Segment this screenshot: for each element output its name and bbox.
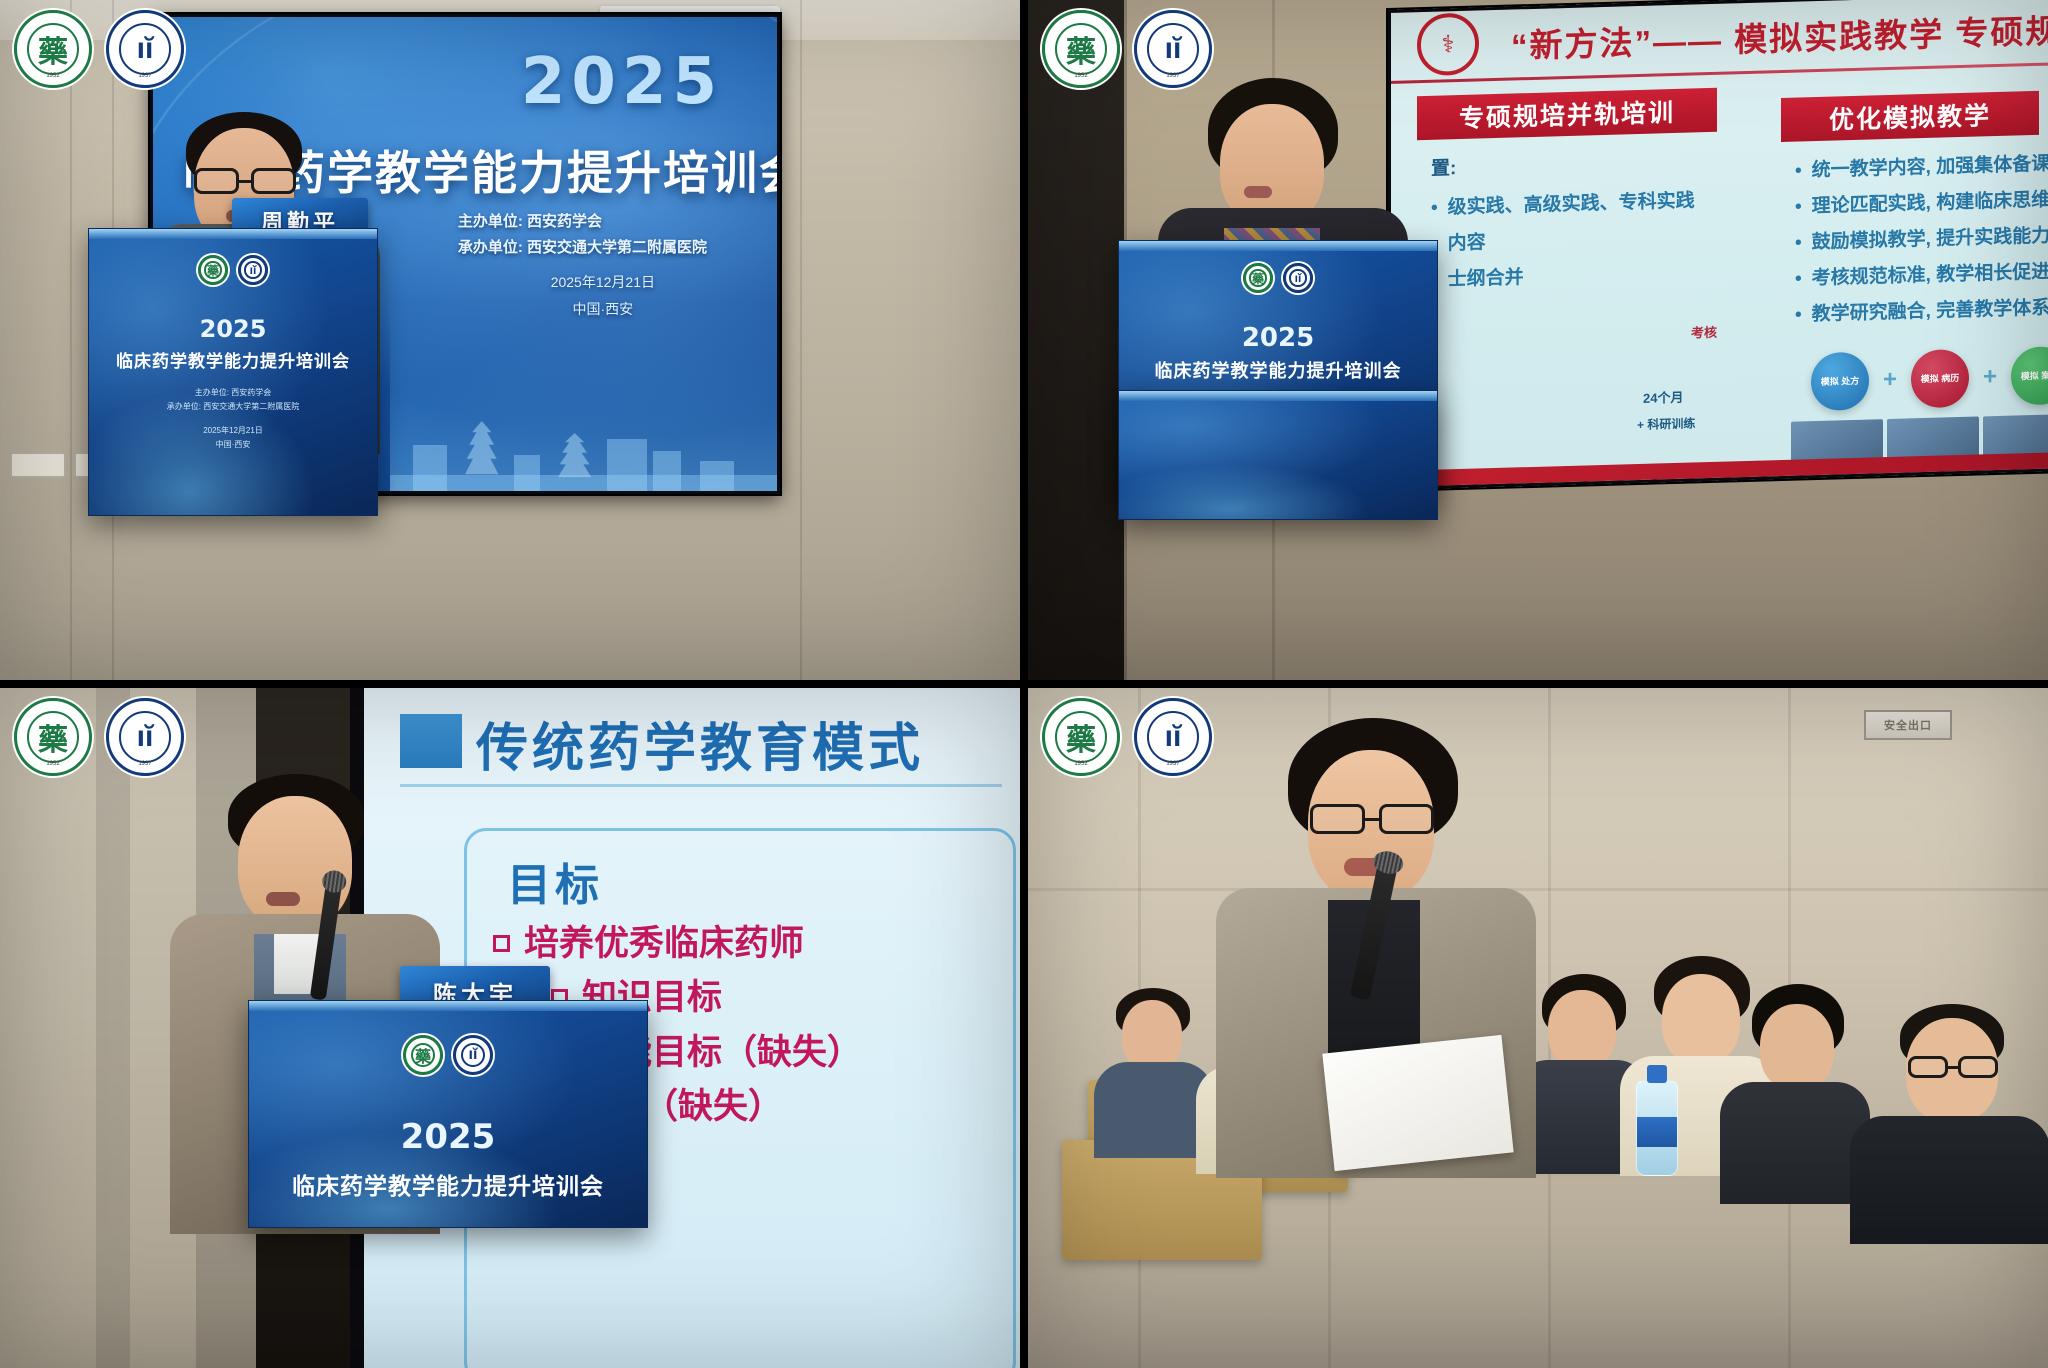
screen-host: 承办单位: 西安交通大学第二附属医院 bbox=[458, 235, 707, 261]
photo-panel-1: 2025 临床药学教学能力提升培训会 主办单位: 西安药学会 承办单位: 西安交… bbox=[0, 0, 1020, 680]
second-affiliated-hospital-logo: ıĭ1937 bbox=[106, 10, 184, 88]
power-outlet bbox=[10, 452, 66, 478]
podium-title: 临床药学教学能力提升培训会 bbox=[89, 347, 377, 372]
overlay-logos: 藥1952 ıĭ1937 bbox=[1042, 10, 1212, 88]
right-box-header: 优化模拟教学 bbox=[1781, 91, 2039, 142]
screen-organizer-block: 主办单位: 西安药学会 承办单位: 西安交通大学第二附属医院 bbox=[458, 209, 707, 262]
podium-title: 临床药学教学能力提升培训会 bbox=[1119, 357, 1437, 383]
screen-year: 2025 bbox=[521, 45, 723, 119]
xian-pharmaceutical-association-logo: 藥1952 bbox=[1042, 698, 1120, 776]
photo-panel-4: 安全出口 bbox=[1028, 688, 2048, 1368]
assessment-label: 考核 bbox=[1691, 322, 1717, 342]
chip: 模拟 病历 bbox=[1911, 349, 1969, 409]
slide-divider bbox=[1391, 63, 2048, 84]
right-box-list: 统一教学内容, 加强集体备课 理论匹配实践, 构建临床思维 鼓励模拟教学, 提升… bbox=[1795, 147, 2048, 335]
city-skyline-graphic bbox=[390, 301, 777, 491]
second-affiliated-hospital-logo: ıĭ1937 bbox=[106, 698, 184, 776]
research-training-label: + 科研训练 bbox=[1637, 414, 1695, 433]
list-item: 培养优秀临床药师 bbox=[493, 917, 1003, 971]
photo-collage: 2025 临床药学教学能力提升培训会 主办单位: 西安药学会 承办单位: 西安交… bbox=[0, 0, 2048, 1368]
glasses-icon bbox=[1908, 1056, 1998, 1078]
right-box-content: 统一教学内容, 加强集体备课 理论匹配实践, 构建临床思维 鼓励模拟教学, 提升… bbox=[1795, 147, 2048, 335]
building bbox=[514, 455, 540, 491]
simulation-chips: 模拟 处方 + 模拟 病历 + 模拟 案例 + 模拟 考核 bbox=[1811, 343, 2048, 411]
second-affiliated-hospital-logo: ıĭ bbox=[238, 255, 268, 285]
audience-member bbox=[1850, 1004, 2048, 1244]
mouth bbox=[1244, 186, 1272, 198]
photo-panel-2: ⚕ “新方法”—— 模拟实践教学 专硕规培并轨 专硕规培并轨培训 置: 级实践、… bbox=[1028, 0, 2048, 680]
slide-title: “新方法”—— 模拟实践教学 专硕规培并轨 bbox=[1511, 1, 2048, 67]
xian-pharmaceutical-association-logo: 藥 bbox=[403, 1035, 443, 1075]
duration-label: 24个月 bbox=[1643, 387, 1683, 407]
list-item: （缺失） bbox=[643, 1080, 1003, 1134]
podium-date: 2025年12月21日 bbox=[89, 425, 377, 436]
wall-column bbox=[96, 688, 130, 1368]
screen-meta-block: 2025年12月21日 中国·西安 bbox=[551, 269, 655, 322]
glasses-icon bbox=[194, 168, 296, 194]
podium-year: 2025 bbox=[89, 315, 377, 343]
list-item: 教学研究融合, 完善教学体系 bbox=[1795, 291, 2048, 334]
xian-pharmaceutical-association-logo: 藥 bbox=[1243, 263, 1273, 293]
building bbox=[413, 445, 447, 491]
checkbox-icon bbox=[493, 935, 510, 952]
podium-year: 2025 bbox=[1119, 323, 1437, 353]
overlay-logos: 藥1952 ıĭ1937 bbox=[14, 10, 184, 88]
second-affiliated-hospital-logo: ıĭ bbox=[453, 1035, 493, 1075]
left-box-header: 专硕规培并轨培训 bbox=[1417, 88, 1717, 140]
list-item-label: 培养优秀临床药师 bbox=[524, 924, 804, 963]
audience-member bbox=[1720, 984, 1870, 1204]
podium-host: 承办单位: 西安交通大学第二附属医院 bbox=[89, 401, 377, 412]
screen-date: 2025年12月21日 bbox=[551, 269, 655, 296]
right-box-header-text: 优化模拟教学 bbox=[1829, 96, 1991, 137]
wall-trim bbox=[1028, 888, 2048, 891]
left-box-content: 置: 级实践、高级实践、专科实践 内容 士纲合并 bbox=[1431, 145, 1761, 299]
podium-location: 中国·西安 bbox=[89, 439, 377, 450]
second-affiliated-hospital-logo: ıĭ bbox=[1283, 263, 1313, 293]
podium-logos: 藥 ıĭ bbox=[1243, 263, 1313, 293]
second-affiliated-hospital-logo: ıĭ1937 bbox=[1134, 698, 1212, 776]
screen-organizer: 主办单位: 西安药学会 bbox=[458, 209, 707, 235]
second-affiliated-hospital-logo: ıĭ1937 bbox=[1134, 10, 1212, 88]
wall-seam bbox=[800, 0, 802, 680]
podium-organizer: 主办单位: 西安药学会 bbox=[89, 387, 377, 398]
chip: 模拟 案例 bbox=[2011, 346, 2048, 406]
xian-pharmaceutical-association-logo: 藥 bbox=[198, 255, 228, 285]
screen-location: 中国·西安 bbox=[551, 296, 655, 323]
handout-paper bbox=[1322, 1035, 1513, 1171]
podium: 藥 ıĭ 2025 临床药学教学能力提升培训会 bbox=[248, 1000, 648, 1228]
mouth bbox=[266, 892, 300, 906]
podium-year: 2025 bbox=[249, 1117, 647, 1157]
plus-icon: + bbox=[1883, 366, 1897, 394]
podium-title: 临床药学教学能力提升培训会 bbox=[249, 1167, 647, 1201]
podium-logos: 藥 ıĭ bbox=[403, 1035, 493, 1075]
exit-sign: 安全出口 bbox=[1864, 710, 1952, 740]
building bbox=[700, 461, 734, 491]
building bbox=[607, 439, 647, 491]
photo-panel-3: 传统药学教育模式 目标 培养优秀临床药师 知识目标 技能目标（缺失） （缺失） bbox=[0, 688, 1020, 1368]
left-box-lead: 置: bbox=[1431, 145, 1761, 181]
building bbox=[653, 451, 681, 491]
slide-title: 传统药学教育模式 bbox=[476, 706, 924, 781]
title-accent-block bbox=[400, 714, 462, 768]
hospital-seal-icon: ⚕ bbox=[1417, 12, 1479, 76]
slide-divider bbox=[400, 784, 1002, 787]
xian-pharmaceutical-association-logo: 藥1952 bbox=[1042, 10, 1120, 88]
xian-pharmaceutical-association-logo: 藥1952 bbox=[14, 10, 92, 88]
podium-logos: 藥 ıĭ bbox=[198, 255, 268, 285]
dark-wall-panel bbox=[1028, 0, 1124, 680]
list-item-label: （缺失） bbox=[643, 1087, 783, 1126]
goal-card-title: 目标 bbox=[507, 849, 603, 913]
podium bbox=[1118, 390, 1438, 520]
glasses-icon bbox=[1310, 804, 1434, 834]
wall-seam bbox=[70, 0, 72, 680]
left-box-header-text: 专硕规培并轨培训 bbox=[1459, 93, 1675, 135]
presentation-slide: ⚕ “新方法”—— 模拟实践教学 专硕规培并轨 专硕规培并轨培训 置: 级实践、… bbox=[1388, 0, 2048, 490]
water-bottle bbox=[1636, 1080, 1678, 1176]
xian-pharmaceutical-association-logo: 藥1952 bbox=[14, 698, 92, 776]
chip: 模拟 处方 bbox=[1811, 352, 1869, 412]
plus-icon: + bbox=[1983, 363, 1997, 391]
overlay-logos: 藥1952 ıĭ1937 bbox=[14, 698, 184, 776]
overlay-logos: 藥1952 ıĭ1937 bbox=[1042, 698, 1212, 776]
podium: 藥 ıĭ 2025 临床药学教学能力提升培训会 主办单位: 西安药学会 承办单位… bbox=[88, 228, 378, 516]
left-box-list: 级实践、高级实践、专科实践 内容 士纲合并 bbox=[1431, 182, 1761, 299]
